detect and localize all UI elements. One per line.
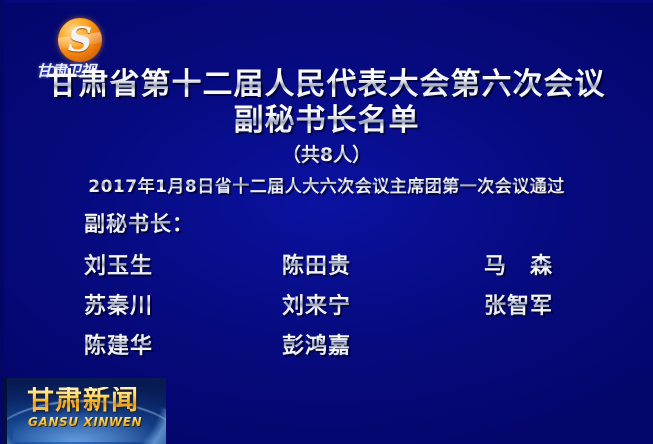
name-item: 陈田贵 [282, 248, 351, 280]
screen-edge-top [0, 0, 653, 3]
slide-title-line-1: 甘肃省第十二届人民代表大会第六次会议 [0, 68, 653, 103]
program-name-cn: 甘肃新闻 [27, 387, 155, 414]
slide-count-note: （共8人） [0, 140, 653, 167]
broadcast-screen: S 甘肃卫视 甘肃省第十二届人民代表大会第六次会议 副秘书长名单 （共8人） 2… [0, 0, 653, 444]
name-item: 苏秦川 [84, 288, 153, 320]
name-list: 刘玉生 陈田贵 马 森 苏秦川 刘来宁 张智军 陈建华 彭鸿嘉 [84, 248, 584, 368]
name-item: 马 森 [484, 248, 553, 280]
name-item: 刘玉生 [84, 248, 153, 280]
section-label: 副秘书长： [84, 208, 194, 238]
name-item: 陈建华 [84, 328, 153, 360]
logo-letter: S [58, 18, 102, 62]
slide-approval-line: 2017年1月8日省十二届人大六次会议主席团第一次会议通过 [0, 172, 653, 197]
slide-title-line-2: 副秘书长名单 [0, 104, 653, 139]
name-item: 彭鸿嘉 [282, 328, 351, 360]
lower-third-banner: 甘肃新闻 GANSU XINWEN [4, 378, 166, 444]
name-row: 苏秦川 刘来宁 张智军 [84, 288, 584, 328]
program-name-en: GANSU XINWEN [28, 416, 158, 428]
name-row: 刘玉生 陈田贵 马 森 [84, 248, 584, 288]
sphere-logo-icon: S [58, 18, 102, 62]
name-item: 张智军 [484, 288, 553, 320]
name-row: 陈建华 彭鸿嘉 [84, 328, 584, 368]
name-item: 刘来宁 [282, 288, 351, 320]
